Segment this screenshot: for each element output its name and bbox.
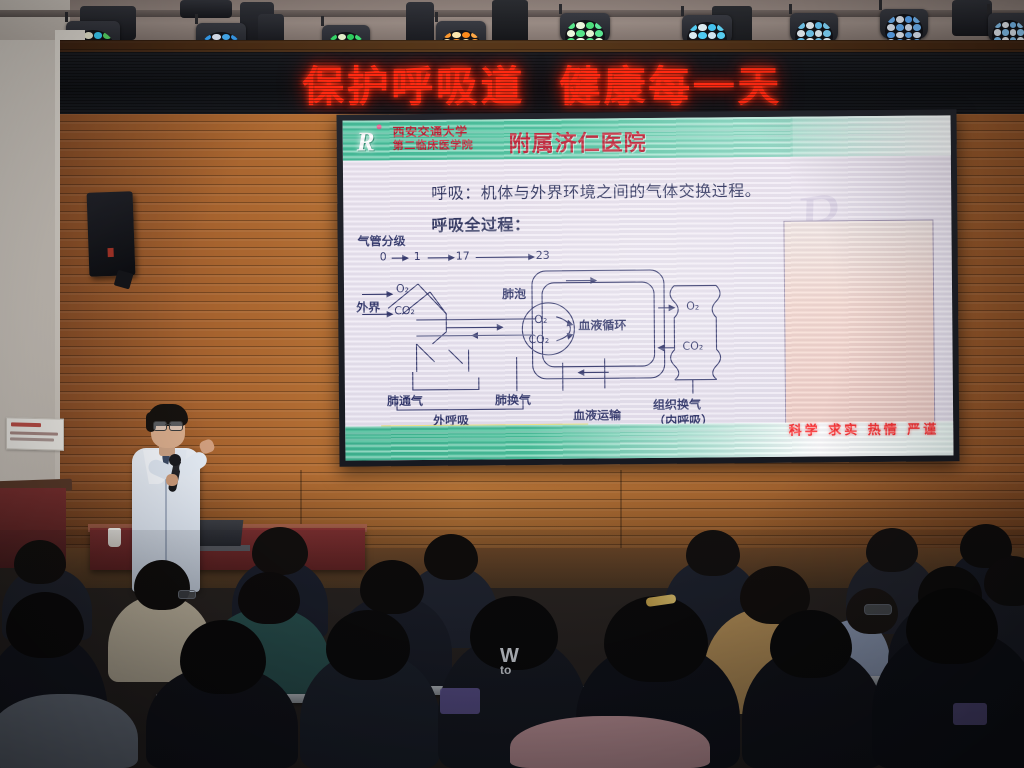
audience-head	[326, 610, 410, 680]
jacket-logo-icon: Wto	[500, 650, 534, 674]
lecture-hall-photo: 保护呼吸道 健康每一天 R 西安交通大学 第二临床医学院 附属济仁医院 R 呼吸…	[0, 0, 1024, 768]
audience-head	[252, 527, 308, 575]
audience-head	[238, 572, 300, 624]
audience-head	[134, 560, 190, 610]
audience-glasses-icon	[864, 604, 892, 615]
audience-body-grey-fleece	[0, 694, 138, 768]
audience-head-bun	[604, 596, 708, 682]
audience-body-pink	[510, 716, 710, 768]
audience-head	[906, 588, 998, 664]
audience-head	[866, 528, 918, 572]
audience-head	[424, 534, 478, 580]
audience: Wto	[0, 0, 1024, 768]
audience-head	[770, 610, 852, 678]
purple-badge-2	[953, 703, 987, 725]
purple-badge	[440, 688, 480, 714]
audience-glasses-icon	[178, 590, 196, 599]
audience-head	[360, 560, 424, 614]
audience-head	[180, 620, 266, 694]
audience-head	[6, 592, 84, 658]
audience-head	[686, 530, 740, 576]
audience-head	[14, 540, 66, 584]
